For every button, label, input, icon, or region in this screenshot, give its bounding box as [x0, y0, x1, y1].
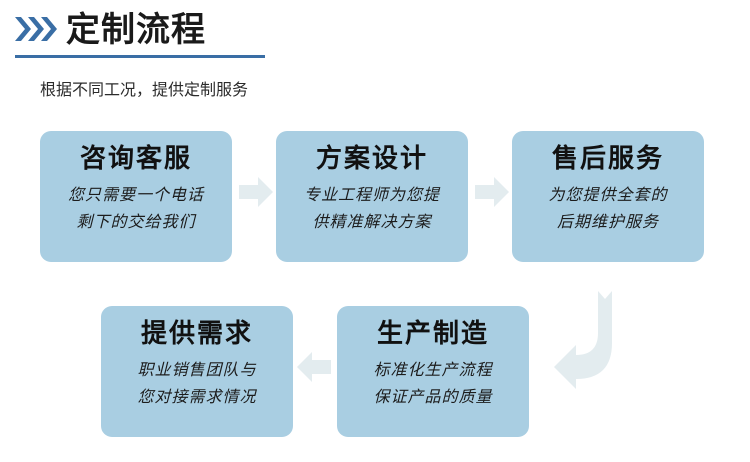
flow-step-card-consult[interactable]: 咨询客服 您只需要一个电话 剩下的交给我们: [40, 131, 232, 262]
flow-step-body-line: 保证产品的质量: [373, 383, 492, 410]
flow-step-title: 咨询客服: [80, 143, 192, 173]
flow-step-body-line: 剩下的交给我们: [68, 208, 204, 235]
flow-step-title: 提供需求: [141, 318, 253, 348]
page-title: 定制流程: [66, 8, 206, 52]
arrow-right-icon: [472, 172, 512, 212]
title-underline: [15, 55, 265, 58]
flow-step-title: 生产制造: [377, 318, 489, 348]
flow-step-body-line: 您对接需求情况: [137, 383, 256, 410]
flow-step-body-line: 后期维护服务: [548, 208, 667, 235]
flow-step-body: 职业销售团队与 您对接需求情况: [137, 356, 256, 410]
page-header: 定制流程 根据不同工况，提供定制服务: [0, 0, 750, 62]
flow-step-card-manufacture[interactable]: 生产制造 标准化生产流程 保证产品的质量: [337, 306, 529, 437]
flow-step-body: 专业工程师为您提 供精准解决方案: [304, 181, 440, 235]
flow-step-body-line: 标准化生产流程: [373, 356, 492, 383]
triple-chevron-right-icon: [14, 14, 62, 44]
flow-step-card-requirement[interactable]: 提供需求 职业销售团队与 您对接需求情况: [101, 306, 293, 437]
flow-step-title: 方案设计: [316, 143, 428, 173]
flow-step-body: 标准化生产流程 保证产品的质量: [373, 356, 492, 410]
flow-step-title: 售后服务: [552, 143, 664, 173]
flow-step-body-line: 职业销售团队与: [137, 356, 256, 383]
arrow-right-icon: [236, 172, 276, 212]
customization-flow-page: 定制流程 根据不同工况，提供定制服务 咨询客服 您只需要一个电话 剩下的交给我们…: [0, 0, 750, 462]
arrow-left-icon: [294, 347, 334, 387]
flow-step-card-after-sales[interactable]: 售后服务 为您提供全套的 后期维护服务: [512, 131, 704, 262]
flow-step-body-line: 为您提供全套的: [548, 181, 667, 208]
flow-step-body-line: 专业工程师为您提: [304, 181, 440, 208]
flow-step-card-design[interactable]: 方案设计 专业工程师为您提 供精准解决方案: [276, 131, 468, 262]
curved-arrow-down-left-icon: [548, 275, 648, 395]
page-subtitle: 根据不同工况，提供定制服务: [40, 80, 248, 102]
flow-step-body-line: 您只需要一个电话: [68, 181, 204, 208]
flow-step-body: 为您提供全套的 后期维护服务: [548, 181, 667, 235]
flow-step-body: 您只需要一个电话 剩下的交给我们: [68, 181, 204, 235]
flow-step-body-line: 供精准解决方案: [304, 208, 440, 235]
